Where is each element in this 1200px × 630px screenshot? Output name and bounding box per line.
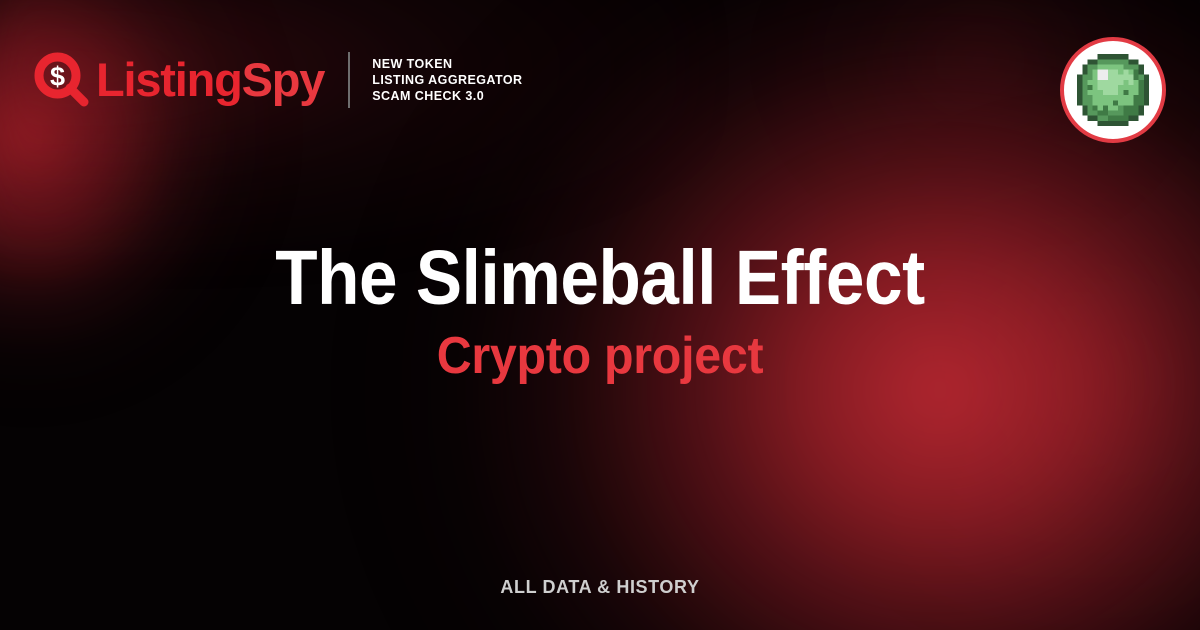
og-card: $ ListingSpy NEW TOKEN LISTING AGGREGATO… bbox=[0, 0, 1200, 630]
footer-label: ALL DATA & HISTORY bbox=[0, 577, 1200, 598]
brand-wordmark-listing: Listing bbox=[96, 53, 242, 106]
tagline-line-2: LISTING AGGREGATOR bbox=[372, 72, 522, 88]
tagline-line-1: NEW TOKEN bbox=[372, 56, 522, 72]
page-title: The Slimeball Effect bbox=[60, 236, 1140, 320]
brand-tagline: NEW TOKEN LISTING AGGREGATOR SCAM CHECK … bbox=[372, 56, 522, 104]
hero-block: The Slimeball Effect Crypto project bbox=[0, 236, 1200, 386]
avatar[interactable] bbox=[1060, 37, 1166, 143]
magnifier-dollar-icon: $ bbox=[34, 52, 90, 108]
page-subtitle: Crypto project bbox=[42, 326, 1158, 386]
tagline-line-3: SCAM CHECK 3.0 bbox=[372, 88, 522, 104]
svg-text:$: $ bbox=[50, 62, 65, 92]
brand-header[interactable]: $ ListingSpy NEW TOKEN LISTING AGGREGATO… bbox=[34, 52, 522, 108]
brand-wordmark: ListingSpy bbox=[96, 56, 324, 103]
brand-wordmark-spy: Spy bbox=[242, 53, 325, 106]
background-glow-top-fade bbox=[0, 0, 700, 260]
slime-ball-icon bbox=[1072, 49, 1154, 131]
header-divider bbox=[348, 52, 350, 108]
